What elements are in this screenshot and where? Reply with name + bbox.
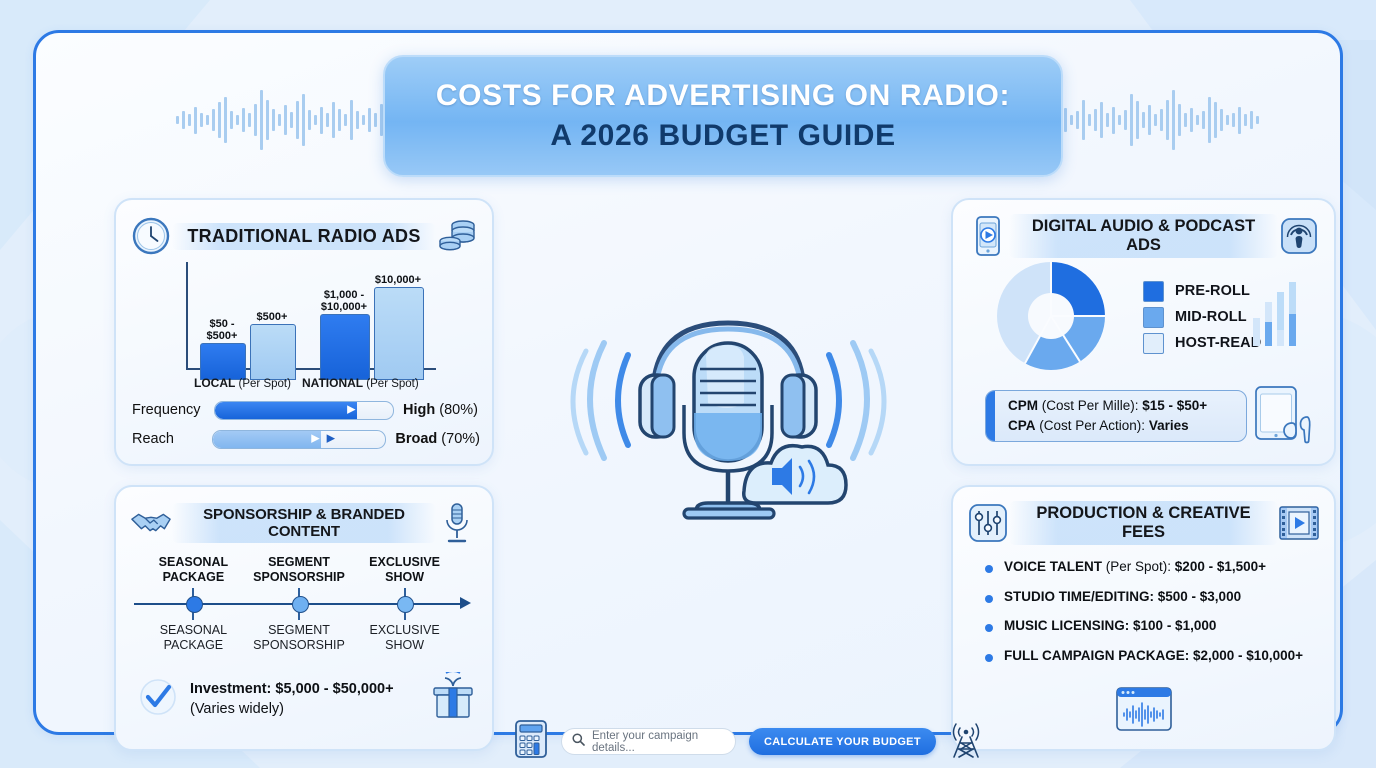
chart-bar-label: $1,000 -$10,000+ [312,289,376,313]
legend-item-pre-roll[interactable]: PRE-ROLL [1143,278,1261,304]
chart-y-axis [186,262,188,370]
axis-label-local-rest: (Per Spot) [235,378,291,390]
page-title-line-1: COSTS FOR ADVERTISING ON RADIO: [436,79,1010,113]
card-header-production: PRODUCTION & CREATIVE FEES [967,503,1320,543]
bottom-action-bar: Enter your campaign details... CALCULATE… [514,719,983,764]
bullet-icon [985,565,993,573]
investment-value: $5,000 - $50,000+ [271,681,393,697]
legend-swatch-host-read [1143,333,1164,354]
legend-item-host-read[interactable]: HOST-READ [1143,330,1261,356]
meter-frequency-label: Frequency [132,402,214,418]
gift-icon [426,672,480,727]
donut-legend: PRE-ROLL MID-ROLL HOST-READ [1143,278,1261,356]
cpa-value: Varies [1149,418,1189,433]
card-title-digital: DIGITAL AUDIO & PODCAST ADS [1009,214,1278,258]
phone-play-icon [967,215,1009,257]
search-placeholder-text: Enter your campaign details... [592,730,725,754]
chart-bar-label: $500+ [242,311,302,323]
list-item: STUDIO TIME/EDITING: $500 - $3,000 [985,589,1315,619]
chart-bar-label: $10,000+ [366,274,430,286]
search-icon [572,733,585,751]
list-item: VOICE TALENT (Per Spot): $200 - $1,500+ [985,559,1315,589]
legend-label-host-read: HOST-READ [1175,335,1261,351]
chart-bar [374,287,424,380]
card-digital-audio-podcast-ads: DIGITAL AUDIO & PODCAST ADS PRE-ROLL [951,198,1336,466]
audio-editor-icon [1115,686,1173,737]
meter-reach-thumb-secondary[interactable]: ▶ [327,434,335,445]
timeline-label-top: EXCLUSIVE SHOW [345,555,465,585]
card-production-creative-fees: PRODUCTION & CREATIVE FEES [951,485,1336,751]
waveform-decoration-left [176,85,389,155]
legend-label-pre-roll: PRE-ROLL [1175,283,1250,299]
handshake-icon [130,502,172,544]
film-play-icon [1278,502,1320,544]
meter-reach-thumb[interactable]: ▶ [311,434,319,445]
timeline-dot[interactable] [397,596,414,613]
card-header-digital: DIGITAL AUDIO & PODCAST ADS [967,216,1320,256]
calculate-budget-button[interactable]: CALCULATE YOUR BUDGET [749,728,936,755]
microphone-icon [436,502,478,544]
donut-separator [1051,315,1105,317]
cpm-abbrev: CPM [1008,398,1038,413]
bar-chart-traditional: $50 -$500+$500+$1,000 -$10,000+$10,000+ … [174,262,436,382]
timeline-label-bottom: SEGMENT SPONSORSHIP [239,623,359,653]
card-header-sponsorship: SPONSORSHIP & BRANDED CONTENT [130,503,478,543]
card-sponsorship-branded-content: SPONSORSHIP & BRANDED CONTENT SEASONAL P… [114,485,494,751]
meter-frequency-thumb[interactable]: ▶ [347,405,355,416]
list-item-text: MUSIC LICENSING: $100 - $1,000 [1004,618,1216,633]
podcast-icon [1278,215,1320,257]
timeline-label-bottom: SEASONAL PACKAGE [133,623,253,653]
search-input[interactable]: Enter your campaign details... [561,728,736,755]
chart-bar [200,343,246,380]
sponsorship-timeline: SEASONAL PACKAGESEASONAL PACKAGESEGMENT … [130,555,482,653]
axis-label-local-bold: LOCAL [194,376,235,390]
meter-reach-label: Reach [132,431,212,447]
list-item-text: VOICE TALENT (Per Spot): $200 - $1,500+ [1004,559,1266,574]
production-fee-list: VOICE TALENT (Per Spot): $200 - $1,500+S… [985,559,1315,677]
microphone-headphones-broadcast-icon [556,313,901,543]
card-title-sponsorship: SPONSORSHIP & BRANDED CONTENT [172,503,436,543]
meter-reach-track[interactable]: ▶ ▶ [212,430,387,449]
cpa-line: CPA (Cost Per Action): Varies [1008,418,1189,433]
timeline-dot[interactable] [186,596,203,613]
list-item-text: FULL CAMPAIGN PACKAGE: $2,000 - $10,000+ [1004,648,1303,663]
meter-reach-fill [213,431,322,448]
meter-reach-value-bold: Broad [395,431,437,447]
investment-text: Investment: $5,000 - $50,000+ (Varies wi… [190,679,394,719]
axis-label-national-rest: (Per Spot) [363,378,419,390]
legend-swatch-pre-roll [1143,281,1164,302]
bullet-icon [985,654,993,662]
card-title-traditional: TRADITIONAL RADIO ADS [172,223,436,250]
sliders-icon [967,502,1009,544]
investment-row: Investment: $5,000 - $50,000+ (Varies wi… [136,675,480,723]
meter-frequency-value-rest: (80%) [435,402,478,418]
meter-frequency-fill [215,402,357,419]
donut-chart-ad-formats [997,262,1105,370]
coins-icon [436,215,478,257]
meter-reach: Reach ▶ ▶ Broad (70%) [132,427,480,451]
meter-frequency: Frequency ▶ High (80%) [132,398,480,422]
timeline-label-top: SEASONAL PACKAGE [133,555,253,585]
cpm-descriptor: (Cost Per Mille): [1038,398,1142,413]
clock-icon [130,215,172,257]
tablet-earbuds-icon [1252,383,1322,450]
card-title-production: PRODUCTION & CREATIVE FEES [1009,501,1278,545]
legend-swatch-mid-roll [1143,307,1164,328]
card-header-traditional: TRADITIONAL RADIO ADS [130,216,478,256]
meter-reach-value: Broad (70%) [395,431,480,447]
chart-group-label-national: NATIONAL (Per Spot) [302,376,419,390]
waveform-decoration-right [1046,85,1259,155]
timeline-label-bottom: EXCLUSIVE SHOW [345,623,465,653]
title-banner: COSTS FOR ADVERTISING ON RADIO: A 2026 B… [383,55,1063,177]
mini-bar-decoration [1253,282,1311,346]
list-item: MUSIC LICENSING: $100 - $1,000 [985,618,1315,648]
investment-label: Investment: [190,681,271,697]
meter-reach-value-rest: (70%) [437,431,480,447]
check-icon [136,675,180,724]
cpm-cpa-callout: CPM (Cost Per Mille): $15 - $50+ CPA (Co… [985,390,1247,442]
meter-frequency-value-bold: High [403,402,435,418]
bullet-icon [985,595,993,603]
legend-label-mid-roll: MID-ROLL [1175,309,1247,325]
timeline-label-top: SEGMENT SPONSORSHIP [239,555,359,585]
chart-bar [320,314,370,380]
cpa-descriptor: (Cost Per Action): [1036,418,1149,433]
card-traditional-radio-ads: TRADITIONAL RADIO ADS [114,198,494,466]
chart-group-label-local: LOCAL (Per Spot) [194,376,291,390]
callout-accent-bar [986,391,995,441]
radio-tower-icon [949,719,983,764]
page-title-line-2: A 2026 BUDGET GUIDE [550,119,895,153]
infographic-frame: COSTS FOR ADVERTISING ON RADIO: A 2026 B… [33,30,1343,735]
cpm-line: CPM (Cost Per Mille): $15 - $50+ [1008,398,1207,413]
bullet-icon [985,624,993,632]
list-item: FULL CAMPAIGN PACKAGE: $2,000 - $10,000+ [985,648,1315,678]
axis-label-national-bold: NATIONAL [302,376,363,390]
list-item-text: STUDIO TIME/EDITING: $500 - $3,000 [1004,589,1241,604]
meter-frequency-track[interactable]: ▶ [214,401,394,420]
calculator-icon[interactable] [514,719,548,764]
meter-frequency-value: High (80%) [403,402,478,418]
chart-bar [250,324,296,380]
investment-note: (Varies widely) [190,701,284,717]
cpm-value: $15 - $50+ [1142,398,1207,413]
timeline-arrow-head [460,597,471,609]
donut-separator [1050,262,1052,316]
timeline-dot[interactable] [292,596,309,613]
cpa-abbrev: CPA [1008,418,1036,433]
legend-item-mid-roll[interactable]: MID-ROLL [1143,304,1261,330]
